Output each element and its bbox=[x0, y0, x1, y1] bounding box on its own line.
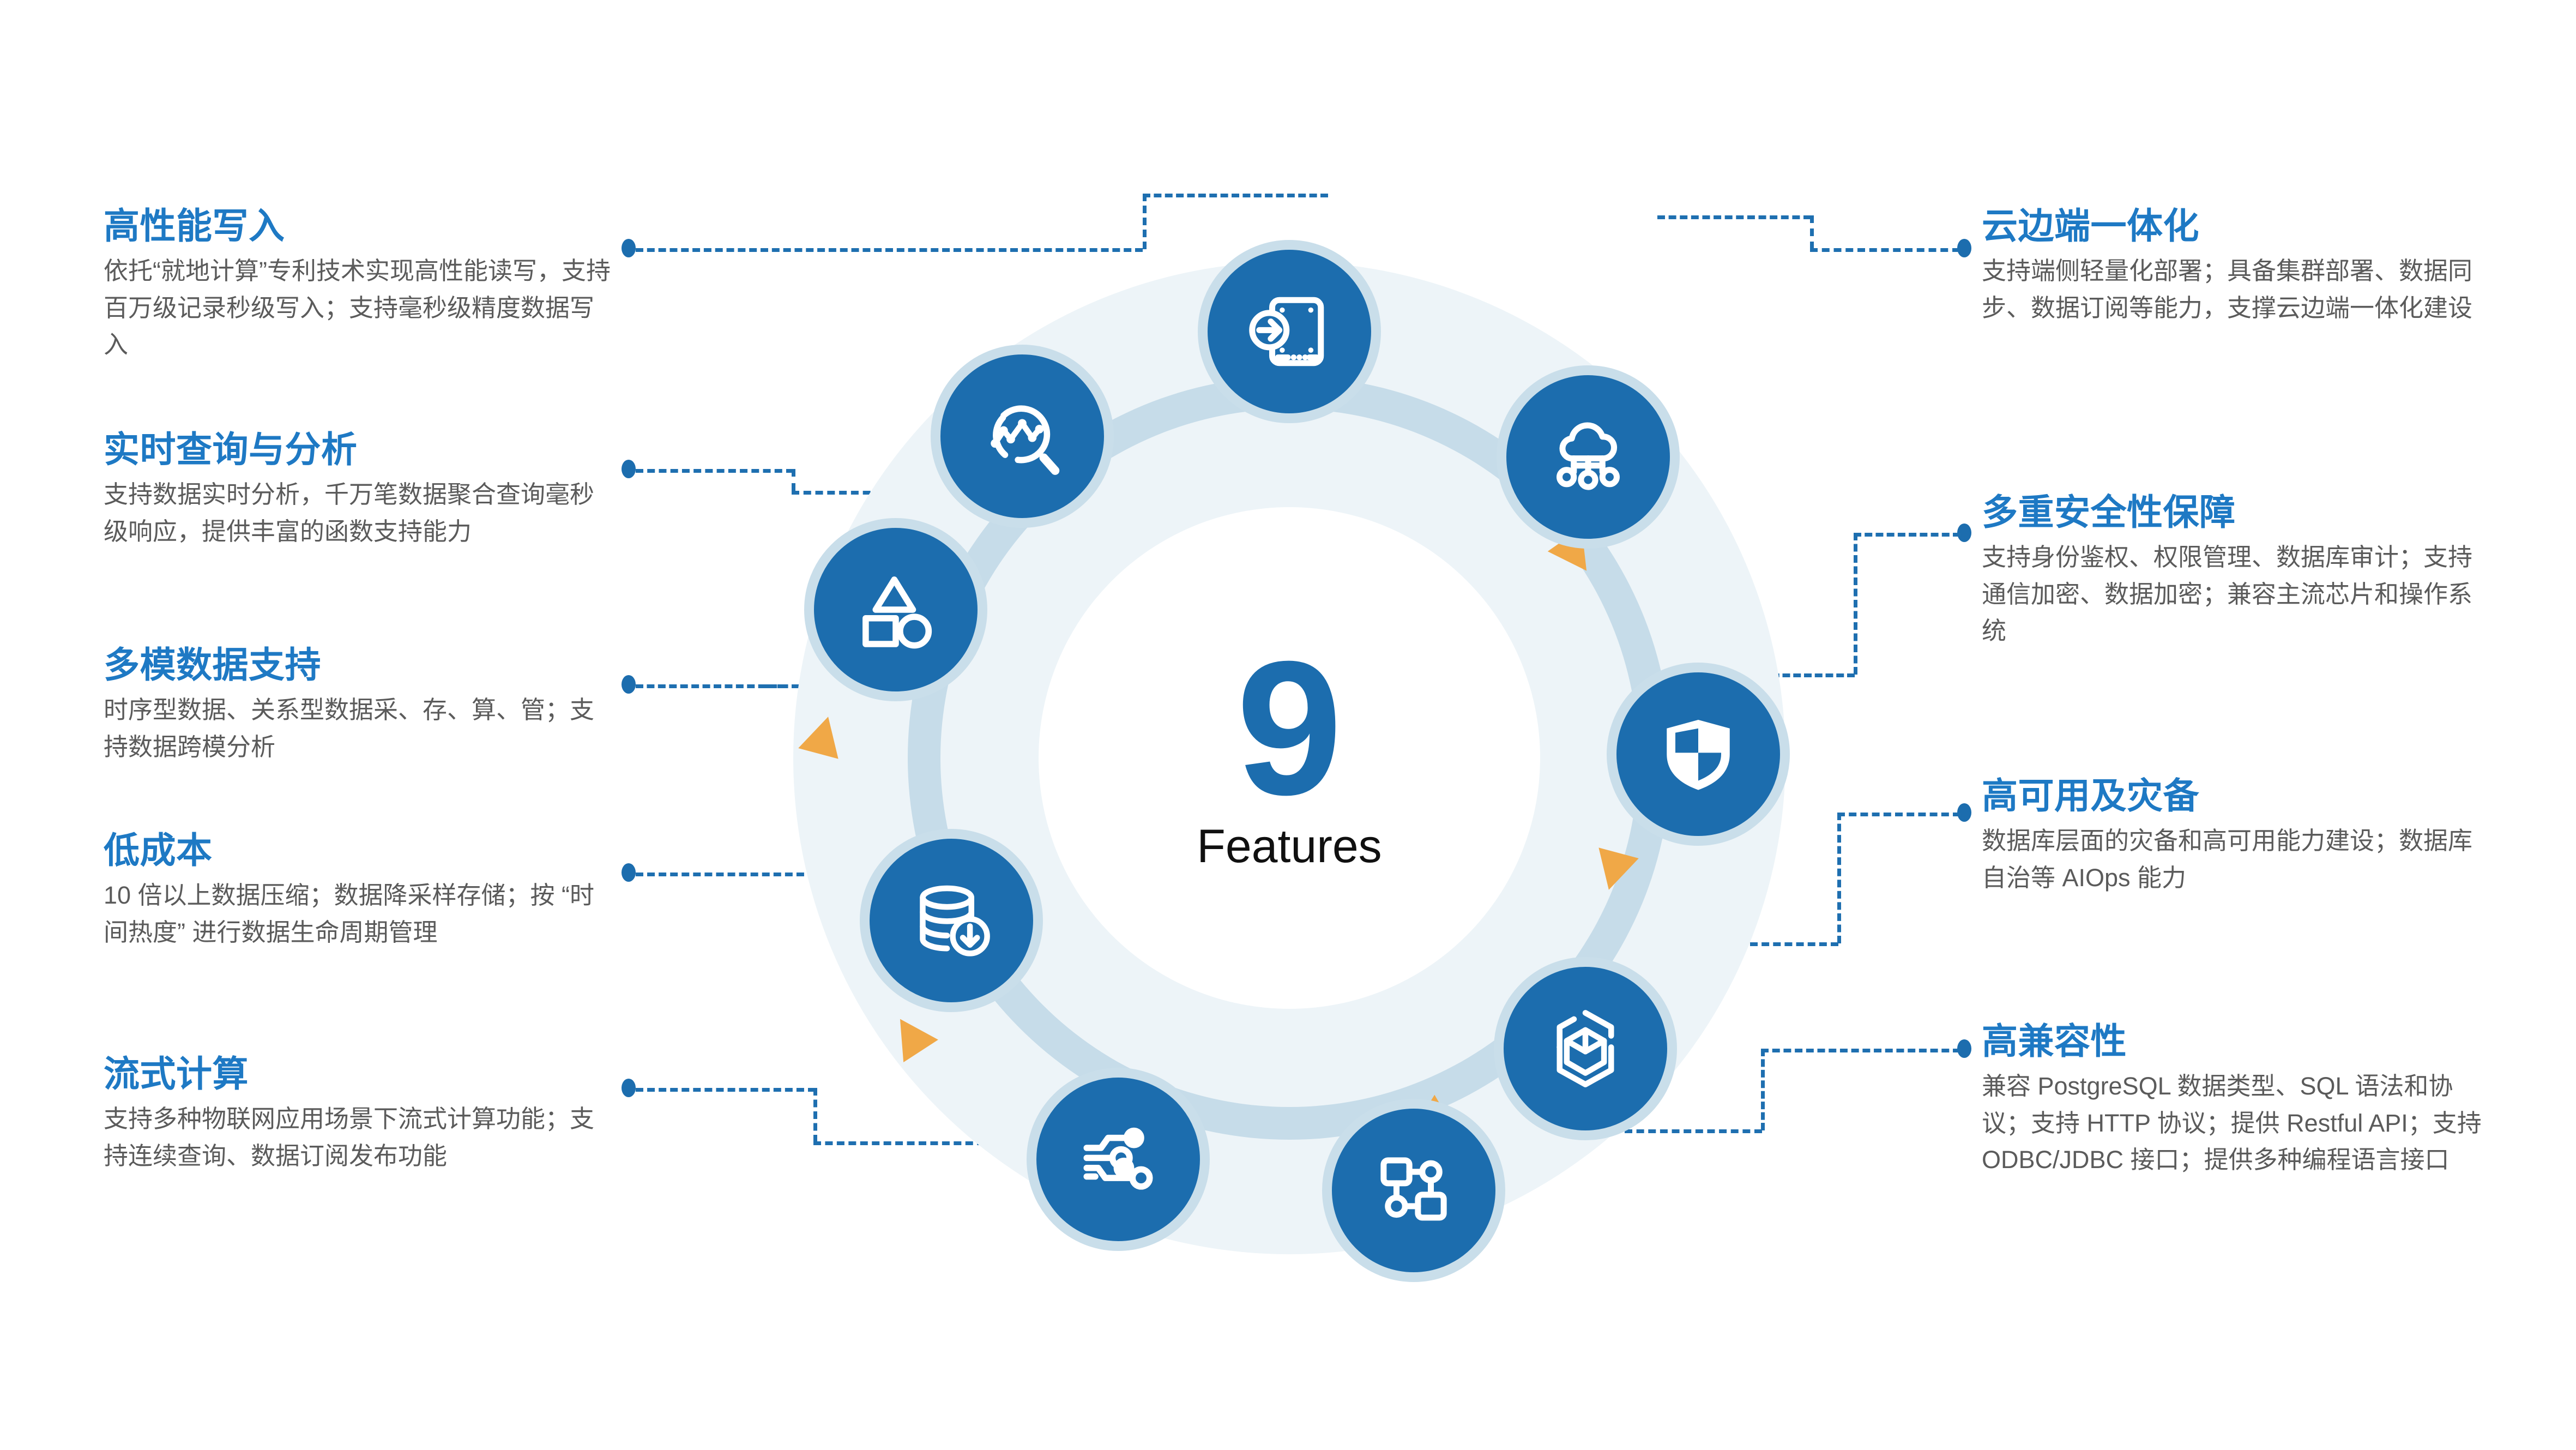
feature-desc: 时序型数据、关系型数据采、存、算、管；支持数据跨模分析 bbox=[104, 691, 611, 765]
feature-title: 高兼容性 bbox=[1982, 1022, 2489, 1060]
feature-wheel: 9 Features bbox=[728, 196, 1851, 1320]
feature-block-left-4: 低成本 10 倍以上数据压缩；数据降采样存储；按 “时间热度” 进行数据生命周期… bbox=[104, 832, 611, 950]
feature-count-caption: Features bbox=[1197, 820, 1381, 874]
feature-block-left-2: 实时查询与分析 支持数据实时分析，千万笔数据聚合查询毫秒级响应，提供丰富的函数支… bbox=[104, 431, 611, 550]
topology-icon bbox=[1368, 1145, 1459, 1236]
chart-search-icon bbox=[976, 390, 1068, 482]
feature-desc: 依托“就地计算”专利技术实现高性能读写，支持百万级记录秒级写入；支持毫秒级精度数… bbox=[104, 252, 611, 363]
node-stream-computing[interactable] bbox=[1027, 1068, 1210, 1251]
feature-desc: 支持多种物联网应用场景下流式计算功能；支持连续查询、数据订阅发布功能 bbox=[104, 1100, 611, 1174]
connector-line-right-2a bbox=[1854, 533, 1960, 537]
wheel-hub: 9 Features bbox=[1039, 507, 1540, 1009]
database-download-icon bbox=[906, 875, 997, 966]
node-realtime-query-analysis[interactable] bbox=[931, 345, 1114, 528]
feature-title: 高可用及灾备 bbox=[1982, 777, 2489, 815]
feature-block-right-3: 高可用及灾备 数据库层面的灾备和高可用能力建设；数据库自治等 AIOps 能力 bbox=[1982, 777, 2489, 896]
connector-dot-left-3 bbox=[622, 675, 636, 694]
feature-desc: 兼容 PostgreSQL 数据类型、SQL 语法和协议；支持 HTTP 协议；… bbox=[1982, 1068, 2489, 1178]
shapes-icon bbox=[850, 564, 942, 655]
feature-block-left-5: 流式计算 支持多种物联网应用场景下流式计算功能；支持连续查询、数据订阅发布功能 bbox=[104, 1055, 611, 1174]
feature-block-right-4: 高兼容性 兼容 PostgreSQL 数据类型、SQL 语法和协议；支持 HTT… bbox=[1982, 1022, 2489, 1178]
feature-title: 云边端一体化 bbox=[1982, 207, 2489, 245]
connector-dot-left-4 bbox=[622, 863, 636, 882]
feature-count: 9 bbox=[1236, 642, 1343, 814]
feature-desc: 支持端侧轻量化部署；具备集群部署、数据同步、数据订阅等能力，支撑云边端一体化建设 bbox=[1982, 252, 2489, 326]
connector-line-right-2b bbox=[1854, 533, 1857, 675]
infographic-canvas: 高性能写入 依托“就地计算”专利技术实现高性能读写，支持百万级记录秒级写入；支持… bbox=[0, 0, 2576, 1450]
feature-block-left-3: 多模数据支持 时序型数据、关系型数据采、存、算、管；支持数据跨模分析 bbox=[104, 646, 611, 765]
feature-title: 低成本 bbox=[104, 832, 611, 869]
feature-title: 多模数据支持 bbox=[104, 646, 611, 684]
node-cloud-edge-integration[interactable] bbox=[1497, 365, 1680, 549]
node-high-availability[interactable] bbox=[1494, 957, 1677, 1140]
node-multi-security[interactable] bbox=[1607, 663, 1790, 846]
connector-line-right-3a bbox=[1837, 813, 1960, 816]
cloud-network-icon bbox=[1542, 411, 1634, 503]
feature-desc: 支持身份鉴权、权限管理、数据库审计；支持通信加密、数据加密；兼容主流芯片和操作系… bbox=[1982, 539, 2489, 649]
shield-icon bbox=[1652, 708, 1744, 800]
feature-title: 高性能写入 bbox=[104, 207, 611, 245]
feature-title: 流式计算 bbox=[104, 1055, 611, 1093]
feature-block-right-1: 云边端一体化 支持端侧轻量化部署；具备集群部署、数据同步、数据订阅等能力，支撑云… bbox=[1982, 207, 2489, 326]
feature-block-right-2: 多重安全性保障 支持身份鉴权、权限管理、数据库审计；支持通信加密、数据加密；兼容… bbox=[1982, 494, 2489, 649]
node-low-cost[interactable] bbox=[860, 829, 1043, 1012]
feature-desc: 支持数据实时分析，千万笔数据聚合查询毫秒级响应，提供丰富的函数支持能力 bbox=[104, 476, 611, 550]
feature-title: 多重安全性保障 bbox=[1982, 494, 2489, 531]
connector-dot-left-1 bbox=[622, 239, 636, 257]
connector-dot-left-5 bbox=[622, 1079, 636, 1097]
feature-title: 实时查询与分析 bbox=[104, 431, 611, 468]
connector-dot-left-2 bbox=[622, 460, 636, 478]
feature-block-left-1: 高性能写入 依托“就地计算”专利技术实现高性能读写，支持百万级记录秒级写入；支持… bbox=[104, 207, 611, 363]
node-high-performance-write[interactable] bbox=[1198, 240, 1381, 423]
node-multi-model-data[interactable] bbox=[804, 518, 987, 701]
feature-desc: 10 倍以上数据压缩；数据降采样存储；按 “时间热度” 进行数据生命周期管理 bbox=[104, 877, 611, 950]
cube-hexagon-icon bbox=[1540, 1003, 1631, 1094]
stream-circuit-icon bbox=[1072, 1114, 1164, 1205]
feature-desc: 数据库层面的灾备和高可用能力建设；数据库自治等 AIOps 能力 bbox=[1982, 822, 2489, 896]
node-high-compatibility[interactable] bbox=[1322, 1099, 1505, 1282]
disk-import-icon bbox=[1244, 286, 1335, 377]
